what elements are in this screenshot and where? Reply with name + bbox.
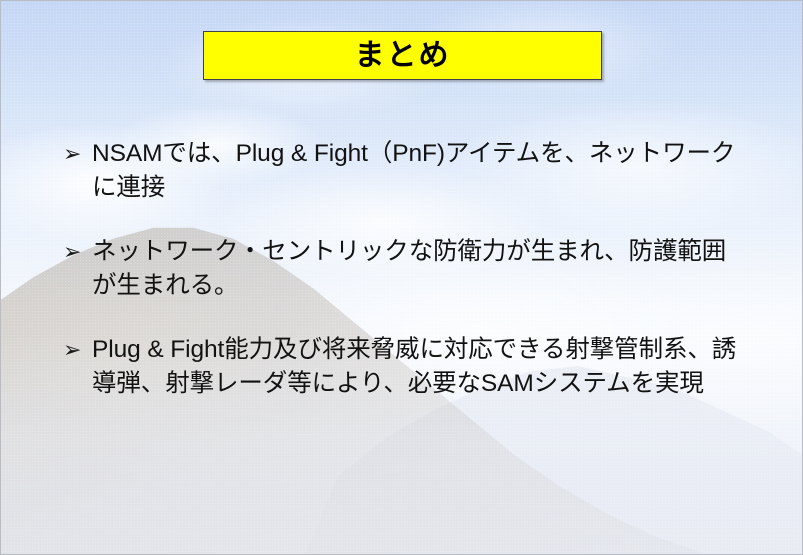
slide-title-text: まとめ	[355, 41, 451, 71]
bullet-item-1-text: NSAMでは、Plug & Fight（PnF)アイテムを、ネットワークに連接	[92, 137, 747, 205]
arrowhead-bullet-icon: ➢	[63, 235, 92, 269]
slide-body: ➢ NSAMでは、Plug & Fight（PnF)アイテムを、ネットワークに連…	[63, 137, 763, 401]
bullet-item-3-text: Plug & Fight能力及び将来脅威に対応できる射撃管制系、誘導弾、射撃レー…	[92, 333, 747, 401]
bullet-item-2: ➢ ネットワーク・セントリックな防衛力が生まれ、防護範囲が生まれる。	[63, 235, 763, 303]
slide-title-box: まとめ	[203, 31, 602, 80]
arrowhead-bullet-icon: ➢	[63, 137, 92, 171]
arrowhead-bullet-icon: ➢	[63, 333, 92, 367]
presentation-slide: まとめ ➢ NSAMでは、Plug & Fight（PnF)アイテムを、ネットワ…	[0, 0, 803, 555]
bullet-item-2-text: ネットワーク・セントリックな防衛力が生まれ、防護範囲が生まれる。	[92, 235, 747, 303]
bullet-item-1: ➢ NSAMでは、Plug & Fight（PnF)アイテムを、ネットワークに連…	[63, 137, 763, 205]
bullet-item-3: ➢ Plug & Fight能力及び将来脅威に対応できる射撃管制系、誘導弾、射撃…	[63, 333, 763, 401]
